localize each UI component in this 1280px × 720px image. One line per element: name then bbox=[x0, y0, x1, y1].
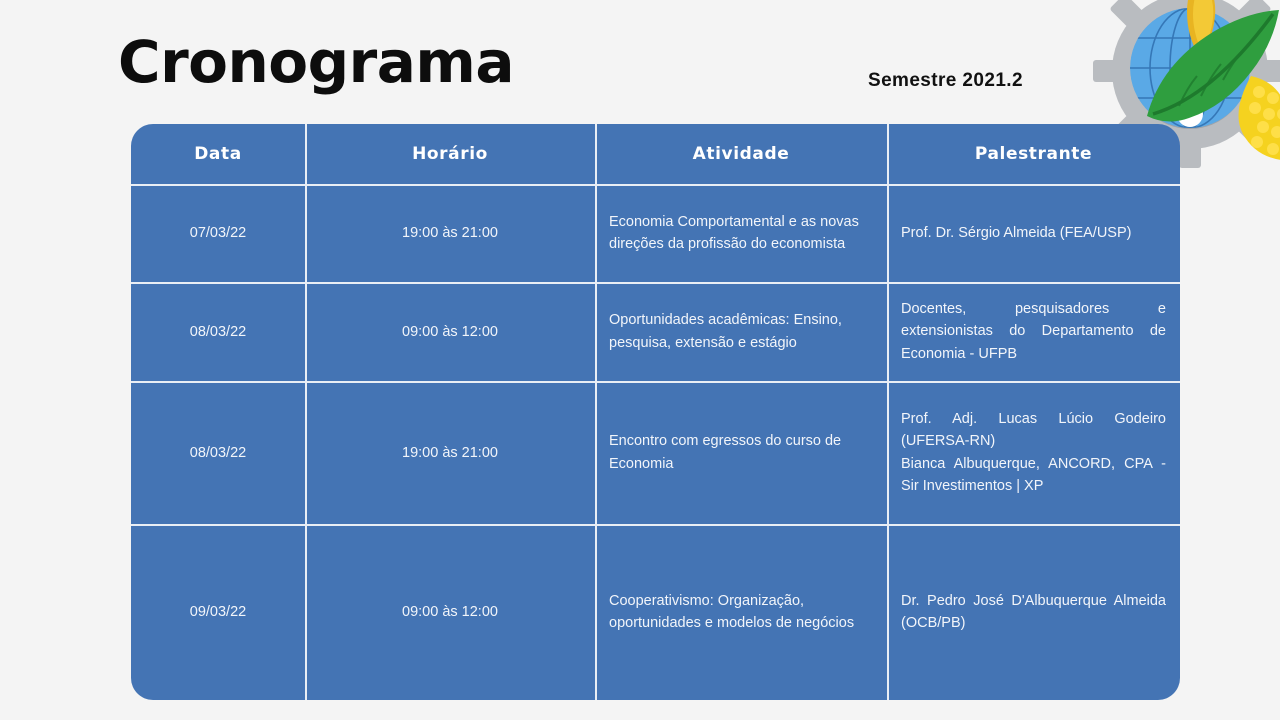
column-header-data: Data bbox=[131, 124, 305, 184]
semester-label: Semestre 2021.2 bbox=[868, 70, 1023, 92]
table-header-row: Data Horário Atividade Palestrante bbox=[131, 124, 1180, 184]
column-header-atividade: Atividade bbox=[595, 124, 887, 184]
palestrante-line-secondary: Bianca Albuquerque, ANCORD, CPA - Sir In… bbox=[901, 453, 1166, 497]
table-row: 09/03/22 09:00 às 12:00 Cooperativismo: … bbox=[131, 524, 1180, 700]
cell-data: 07/03/22 bbox=[131, 184, 305, 282]
cell-horario: 19:00 às 21:00 bbox=[305, 184, 595, 282]
cell-atividade: Economia Comportamental e as novas direç… bbox=[595, 184, 887, 282]
slide-header: Cronograma Semestre 2021.2 bbox=[0, 0, 1280, 124]
cell-data: 09/03/22 bbox=[131, 524, 305, 700]
cell-palestrante: Prof. Adj. Lucas Lúcio Godeiro (UFERSA-R… bbox=[887, 381, 1180, 524]
palestrante-line: Dr. Pedro José D'Albuquerque Almeida (OC… bbox=[901, 590, 1166, 634]
cell-palestrante: Docentes, pesquisadores e extensionistas… bbox=[887, 282, 1180, 381]
column-header-horario: Horário bbox=[305, 124, 595, 184]
palestrante-line: Prof. Adj. Lucas Lúcio Godeiro (UFERSA-R… bbox=[901, 408, 1166, 452]
column-header-palestrante: Palestrante bbox=[887, 124, 1180, 184]
table-row: 07/03/22 19:00 às 21:00 Economia Comport… bbox=[131, 184, 1180, 282]
table-row: 08/03/22 09:00 às 12:00 Oportunidades ac… bbox=[131, 282, 1180, 381]
cell-atividade: Oportunidades acadêmicas: Ensino, pesqui… bbox=[595, 282, 887, 381]
page-title: Cronograma bbox=[118, 33, 514, 91]
cell-palestrante: Prof. Dr. Sérgio Almeida (FEA/USP) bbox=[887, 184, 1180, 282]
palestrante-line: Docentes, pesquisadores e extensionistas… bbox=[901, 298, 1166, 364]
cell-atividade: Encontro com egressos do curso de Econom… bbox=[595, 381, 887, 524]
cell-horario: 09:00 às 12:00 bbox=[305, 282, 595, 381]
cell-horario: 19:00 às 21:00 bbox=[305, 381, 595, 524]
cell-data: 08/03/22 bbox=[131, 381, 305, 524]
table-row: 08/03/22 19:00 às 21:00 Encontro com egr… bbox=[131, 381, 1180, 524]
schedule-table: Data Horário Atividade Palestrante 07/03… bbox=[131, 124, 1180, 700]
cell-atividade: Cooperativismo: Organização, oportunidad… bbox=[595, 524, 887, 700]
cell-palestrante: Dr. Pedro José D'Albuquerque Almeida (OC… bbox=[887, 524, 1180, 700]
cell-data: 08/03/22 bbox=[131, 282, 305, 381]
palestrante-line: Prof. Dr. Sérgio Almeida (FEA/USP) bbox=[901, 222, 1166, 244]
cell-horario: 09:00 às 12:00 bbox=[305, 524, 595, 700]
